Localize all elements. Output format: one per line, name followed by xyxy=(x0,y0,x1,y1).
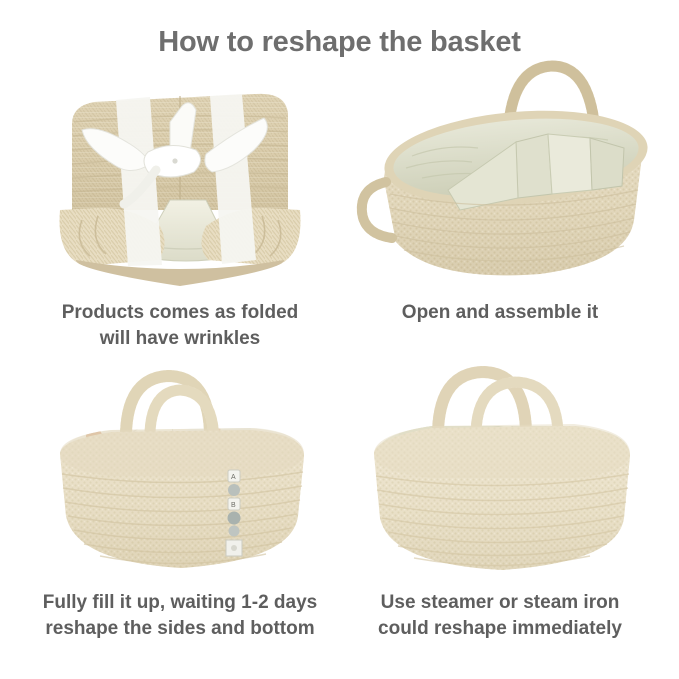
svg-text:B: B xyxy=(231,502,236,509)
caption-open-line1: Open and assemble it xyxy=(402,302,598,323)
step-open: Open and assemble it xyxy=(340,44,660,300)
caption-open: Open and assemble it xyxy=(340,300,660,326)
caption-empty-line2: could reshape immediately xyxy=(340,616,660,642)
caption-folded-line1: Products comes as folded xyxy=(62,302,299,323)
step-filled: veeno xyxy=(20,340,340,590)
step-empty: Use steamer or steam iron could reshape … xyxy=(340,340,660,590)
caption-filled-line2: reshape the sides and bottom xyxy=(20,616,340,642)
caption-filled: Fully fill it up, waiting 1-2 days resha… xyxy=(20,590,340,642)
empty-basket-rim xyxy=(374,424,630,478)
caption-empty: Use steamer or steam iron could reshape … xyxy=(340,590,660,642)
steamed-basket-illustration xyxy=(340,340,660,590)
open-basket-illustration xyxy=(340,44,660,300)
caption-empty-line1: Use steamer or steam iron xyxy=(381,592,620,613)
step-folded: Products comes as folded will have wrink… xyxy=(20,60,340,300)
folded-basket-illustration xyxy=(20,60,340,300)
svg-text:A: A xyxy=(231,474,236,481)
infographic-page: How to reshape the basket xyxy=(0,0,679,679)
filled-basket-illustration: veeno xyxy=(20,340,340,590)
filled-basket-rim xyxy=(60,428,304,476)
caption-filled-line1: Fully fill it up, waiting 1-2 days xyxy=(43,592,317,613)
